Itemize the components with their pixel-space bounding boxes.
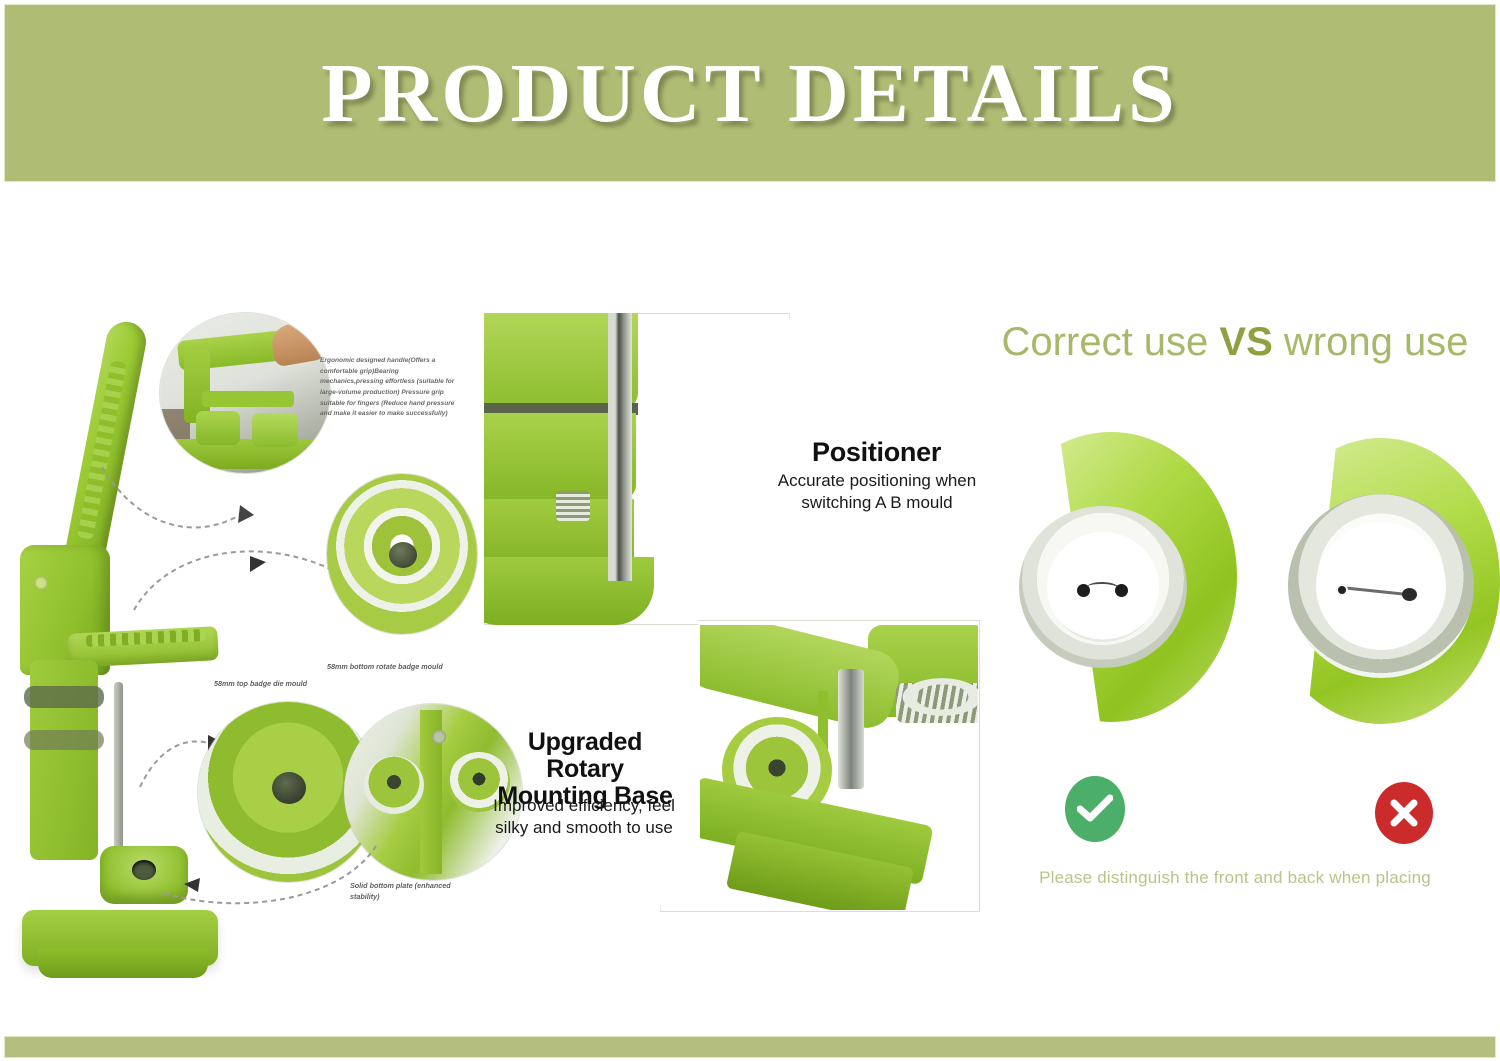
title-correct-use: Correct use [1002, 320, 1220, 364]
machine-pivot-bolt [34, 576, 48, 590]
inset-hand-arm [202, 391, 294, 407]
inset-hand-mould-a [196, 411, 240, 445]
arrow-handle-to-hand-inset [98, 455, 258, 545]
wrong-use-photo [1262, 438, 1500, 724]
rotary-base-photo [700, 625, 978, 910]
handle-description-text: Ergonomic designed handle(Offers a comfo… [320, 356, 460, 420]
rotary-base-subtitle: Improved efficiency, feel silky and smoo… [484, 795, 684, 839]
correct-pin-hole-left [1077, 584, 1090, 597]
placement-note: Please distinguish the front and back wh… [1000, 868, 1470, 888]
positioner-spring [556, 491, 590, 521]
rotary-metal-ring [896, 675, 978, 719]
wrong-pin-clasp [1336, 584, 1348, 596]
positioner-steel-rod [608, 313, 632, 581]
cross-icon [1375, 782, 1433, 844]
header-banner: PRODUCT DETAILS [4, 4, 1496, 182]
machine-ring-lower [24, 730, 104, 750]
rotary-steel-post [838, 669, 864, 789]
inset-plate-screw [432, 730, 446, 744]
machine-base-foot [38, 948, 208, 978]
inset-hand-mould-b [252, 413, 298, 447]
arrow-bottom-sweep [150, 840, 380, 920]
title-wrong-use: wrong use [1273, 320, 1469, 364]
inset-bottom-rotate-hole [272, 772, 306, 804]
correct-pin-hole-right [1115, 584, 1128, 597]
footer-bar [4, 1036, 1496, 1058]
product-details-infographic: PRODUCT DETAILS Ergonomic designed handl… [0, 0, 1500, 1061]
machine-ring-upper [24, 686, 104, 708]
label-top-badge-die-mould: 58mm top badge die mould [214, 679, 344, 688]
title-vs: VS [1219, 320, 1272, 364]
inset-hand-pressing-photo [160, 313, 330, 473]
label-bottom-rotate-badge-mould: 58mm bottom rotate badge mould [327, 662, 477, 671]
positioner-photo [484, 313, 656, 625]
inset-top-die-mould-photo [327, 474, 477, 634]
inset-top-die-hole [389, 542, 417, 568]
correct-vs-wrong-title: Correct use VS wrong use [1000, 320, 1470, 365]
page-title: PRODUCT DETAILS [5, 45, 1495, 142]
wrong-badge-face [1316, 522, 1446, 650]
correct-use-photo [985, 432, 1237, 722]
arrow-machine-to-mould-inset [130, 540, 350, 620]
positioner-subtitle: Accurate positioning when switching A B … [772, 470, 982, 514]
check-icon [1065, 776, 1125, 842]
wrong-pin-point [1402, 588, 1417, 601]
machine-steel-post [114, 682, 123, 862]
label-solid-bottom-plate: Solid bottom plate (enhanced stability) [350, 880, 480, 902]
inset-plate-socket-left [364, 756, 424, 814]
positioner-title: Positioner [812, 437, 941, 468]
